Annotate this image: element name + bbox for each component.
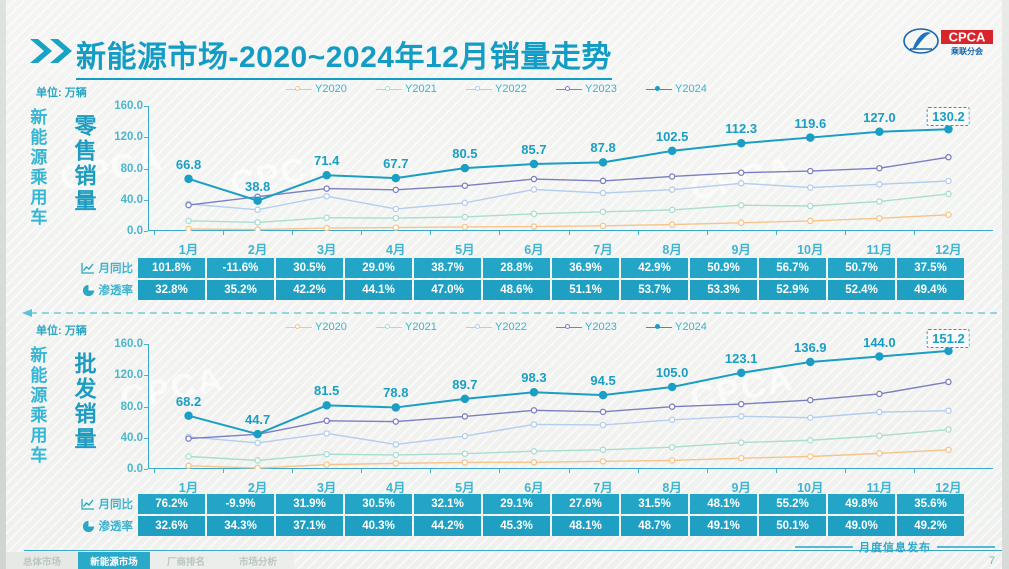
data-point bbox=[945, 126, 952, 133]
table-cell: 47.0% bbox=[414, 280, 481, 300]
data-point bbox=[600, 178, 605, 183]
table-cell: 53.7% bbox=[621, 280, 688, 300]
data-point bbox=[739, 401, 744, 406]
data-point bbox=[393, 452, 398, 457]
data-point bbox=[877, 433, 882, 438]
y-axis-tick bbox=[144, 231, 148, 232]
legend-swatch bbox=[376, 327, 402, 328]
data-point bbox=[600, 223, 605, 228]
data-point bbox=[600, 190, 605, 195]
table-cell: 48.1% bbox=[690, 494, 757, 514]
wholesale-table-row-labels: 月同比 渗透率 bbox=[68, 494, 138, 536]
footer-nav-item[interactable]: 厂商排名 bbox=[150, 552, 222, 569]
wholesale-kind-label: 批发销量 bbox=[72, 352, 94, 452]
wholesale-category-label: 新能源乘用车 bbox=[28, 346, 45, 466]
data-point bbox=[462, 183, 467, 188]
retail-kind-label: 零售销量 bbox=[72, 114, 94, 214]
legend-swatch bbox=[556, 89, 582, 90]
series-line-y2020 bbox=[189, 450, 949, 468]
table-cell: 45.3% bbox=[483, 516, 550, 536]
data-point bbox=[531, 224, 536, 229]
data-point bbox=[393, 419, 398, 424]
x-axis-tick bbox=[569, 231, 570, 235]
data-point bbox=[877, 451, 882, 456]
x-axis-tick-label: 9月 bbox=[731, 239, 750, 258]
table-cell: 50.7% bbox=[828, 258, 895, 278]
x-axis-tick-label: 6月 bbox=[524, 239, 543, 258]
legend-label: Y2022 bbox=[495, 321, 527, 333]
x-axis-tick bbox=[223, 231, 224, 235]
data-point bbox=[255, 440, 260, 445]
y-axis-tick bbox=[144, 375, 148, 376]
data-point bbox=[877, 410, 882, 415]
legend-swatch bbox=[286, 327, 312, 328]
table-cell: 53.3% bbox=[690, 280, 757, 300]
data-point bbox=[530, 389, 537, 396]
data-point bbox=[670, 417, 675, 422]
data-point bbox=[393, 206, 398, 211]
table-cell: 49.2% bbox=[897, 516, 964, 536]
data-value-label: 66.8 bbox=[176, 157, 201, 172]
data-point bbox=[324, 186, 329, 191]
x-axis-tick bbox=[154, 469, 155, 473]
table-cell: 38.7% bbox=[414, 258, 481, 278]
data-point bbox=[739, 170, 744, 175]
retail-table-cells: 101.8%-11.6%30.5%29.0%38.7%28.8%36.9%42.… bbox=[138, 258, 964, 300]
table-cell: 101.8% bbox=[138, 258, 205, 278]
data-value-label: 87.8 bbox=[590, 140, 615, 155]
data-point bbox=[186, 218, 191, 223]
table-cell: 48.1% bbox=[552, 516, 619, 536]
data-point bbox=[877, 216, 882, 221]
data-point bbox=[462, 451, 467, 456]
data-value-label: 151.2 bbox=[927, 329, 970, 348]
data-point bbox=[876, 353, 883, 360]
data-point bbox=[600, 447, 605, 452]
data-point bbox=[808, 397, 813, 402]
data-point bbox=[462, 460, 467, 465]
data-value-label: 67.7 bbox=[383, 156, 408, 171]
table-row: 32.8%35.2%42.2%44.1%47.0%48.6%51.1%53.7%… bbox=[138, 280, 964, 300]
x-axis-tick bbox=[707, 469, 708, 473]
data-point bbox=[739, 181, 744, 186]
x-axis-tick bbox=[707, 231, 708, 235]
data-point bbox=[186, 226, 191, 231]
legend-item-y2020[interactable]: Y2020 bbox=[286, 321, 347, 333]
data-point bbox=[738, 369, 745, 376]
table-cell: 48.6% bbox=[483, 280, 550, 300]
wholesale-table-cells: 76.2%-9.9%31.9%30.5%32.1%29.1%27.6%31.5%… bbox=[138, 494, 964, 536]
y-axis-tick-label: 0.0 bbox=[127, 463, 143, 475]
data-value-label: 144.0 bbox=[863, 335, 896, 350]
legend-swatch bbox=[376, 89, 402, 90]
legend-label: Y2020 bbox=[315, 83, 347, 95]
y-axis-tick-label: 40.0 bbox=[121, 194, 143, 206]
data-point bbox=[739, 456, 744, 461]
data-point bbox=[254, 430, 261, 437]
retail-chart-plot: 0.040.080.0120.0160.01月2月3月4月5月6月7月8月9月1… bbox=[148, 106, 993, 231]
data-point bbox=[669, 383, 676, 390]
x-axis-tick bbox=[845, 469, 846, 473]
table-cell: 34.3% bbox=[207, 516, 274, 536]
y-axis-tick-label: 160.0 bbox=[114, 338, 143, 350]
x-axis-tick bbox=[638, 469, 639, 473]
data-point bbox=[807, 134, 814, 141]
y-axis-tick bbox=[144, 407, 148, 408]
data-value-label: 85.7 bbox=[521, 142, 546, 157]
data-point bbox=[946, 191, 951, 196]
legend-swatch bbox=[466, 89, 492, 90]
wholesale-row-label-penetration: 渗透率 bbox=[68, 516, 138, 536]
data-value-label: 81.5 bbox=[314, 383, 339, 398]
legend-item-y2023[interactable]: Y2023 bbox=[556, 321, 617, 333]
data-point bbox=[462, 414, 467, 419]
data-point bbox=[670, 222, 675, 227]
data-point bbox=[531, 176, 536, 181]
footer-rule-right bbox=[937, 546, 995, 547]
legend-label: Y2024 bbox=[675, 83, 707, 95]
data-value-label: 94.5 bbox=[590, 373, 615, 388]
data-point bbox=[531, 460, 536, 465]
legend-item-y2022[interactable]: Y2022 bbox=[466, 321, 527, 333]
x-axis-tick-label: 11月 bbox=[867, 239, 893, 258]
x-axis-tick bbox=[914, 469, 915, 473]
data-point bbox=[600, 409, 605, 414]
page-title: 新能源市场-2020~2024年12月销量走势 bbox=[76, 32, 612, 80]
table-cell: 40.3% bbox=[345, 516, 412, 536]
series-line-y2022 bbox=[189, 181, 949, 210]
footer-rule-left bbox=[795, 546, 853, 547]
table-cell: 37.5% bbox=[897, 258, 964, 278]
legend-label: Y2023 bbox=[585, 83, 617, 95]
legend-label: Y2021 bbox=[405, 83, 437, 95]
table-cell: 51.1% bbox=[552, 280, 619, 300]
data-point bbox=[531, 211, 536, 216]
wholesale-unit-label: 单位: 万辆 bbox=[36, 322, 87, 338]
table-cell: -9.9% bbox=[207, 494, 274, 514]
svg-text:CPCA: CPCA bbox=[949, 30, 986, 45]
row-label-text: 月同比 bbox=[99, 260, 134, 276]
legend-swatch bbox=[556, 327, 582, 328]
table-cell: 29.0% bbox=[345, 258, 412, 278]
table-row: 32.6%34.3%37.1%40.3%44.2%45.3%48.1%48.7%… bbox=[138, 516, 964, 536]
legend-label: Y2020 bbox=[315, 321, 347, 333]
legend-label: Y2022 bbox=[495, 83, 527, 95]
data-point bbox=[808, 415, 813, 420]
x-axis-tick bbox=[430, 469, 431, 473]
footer-nav-item[interactable]: 市场分析 bbox=[222, 552, 294, 569]
series-line-y2023 bbox=[189, 382, 949, 439]
data-point bbox=[323, 172, 330, 179]
data-point bbox=[739, 220, 744, 225]
svg-text:乘联分会: 乘联分会 bbox=[950, 46, 983, 56]
data-value-label: 119.6 bbox=[794, 116, 826, 131]
retail-table-row-labels: 月同比 渗透率 bbox=[68, 258, 138, 300]
data-point bbox=[670, 174, 675, 179]
row-label-text: 渗透率 bbox=[99, 518, 134, 534]
data-point bbox=[808, 168, 813, 173]
legend-item-y2020[interactable]: Y2020 bbox=[286, 83, 347, 95]
data-point bbox=[324, 431, 329, 436]
chart-svg bbox=[148, 344, 993, 469]
data-value-label: 105.0 bbox=[656, 365, 689, 380]
x-axis-tick bbox=[154, 231, 155, 235]
data-point bbox=[531, 422, 536, 427]
data-point bbox=[393, 187, 398, 192]
y-axis-tick bbox=[144, 469, 148, 470]
data-value-label: 68.2 bbox=[176, 394, 201, 409]
retail-row-label-yoy: 月同比 bbox=[68, 258, 138, 278]
x-axis-tick-label: 2月 bbox=[248, 239, 267, 258]
data-point bbox=[462, 224, 467, 229]
data-point bbox=[462, 434, 467, 439]
y-axis-tick bbox=[144, 344, 148, 345]
data-point bbox=[739, 440, 744, 445]
table-cell: 28.8% bbox=[483, 258, 550, 278]
data-point bbox=[461, 165, 468, 172]
data-point bbox=[877, 182, 882, 187]
y-axis-tick-label: 160.0 bbox=[114, 100, 143, 112]
data-point bbox=[876, 128, 883, 135]
x-axis-tick bbox=[430, 231, 431, 235]
data-value-label: 102.5 bbox=[656, 129, 689, 144]
data-point bbox=[531, 187, 536, 192]
data-point bbox=[599, 392, 606, 399]
data-value-label: 112.3 bbox=[725, 121, 757, 136]
wholesale-row-label-yoy: 月同比 bbox=[68, 494, 138, 514]
table-cell: 49.4% bbox=[897, 280, 964, 300]
pie-chart-icon bbox=[82, 284, 95, 297]
line-chart-icon bbox=[81, 498, 95, 510]
y-axis-tick-label: 120.0 bbox=[114, 131, 143, 143]
data-value-label: 78.8 bbox=[383, 385, 408, 400]
table-cell: 32.6% bbox=[138, 516, 205, 536]
data-point bbox=[392, 175, 399, 182]
data-point bbox=[946, 408, 951, 413]
data-point bbox=[669, 147, 676, 154]
x-axis-tick bbox=[361, 231, 362, 235]
data-point bbox=[600, 459, 605, 464]
wholesale-legend: Y2020 Y2021 Y2022 Y2023 Y2024 bbox=[286, 321, 686, 337]
data-point bbox=[946, 379, 951, 384]
data-point bbox=[186, 454, 191, 459]
table-cell: 49.1% bbox=[690, 516, 757, 536]
double-chevron-right-icon bbox=[28, 36, 74, 66]
legend-label: Y2023 bbox=[585, 321, 617, 333]
table-cell: 49.0% bbox=[828, 516, 895, 536]
data-point bbox=[877, 199, 882, 204]
data-point bbox=[531, 449, 536, 454]
data-point bbox=[324, 452, 329, 457]
data-value-label: 80.5 bbox=[452, 146, 477, 161]
x-axis-tick-label: 10月 bbox=[797, 239, 823, 258]
data-value-label: 98.3 bbox=[521, 370, 546, 385]
data-point bbox=[670, 207, 675, 212]
data-point bbox=[600, 209, 605, 214]
data-point bbox=[738, 140, 745, 147]
cpca-logo: CPCA 乘联分会 bbox=[901, 22, 997, 62]
x-axis-tick bbox=[776, 231, 777, 235]
data-point bbox=[461, 395, 468, 402]
data-point bbox=[324, 215, 329, 220]
y-axis-tick-label: 80.0 bbox=[121, 163, 143, 175]
data-point bbox=[739, 414, 744, 419]
legend-item-y2024[interactable]: Y2024 bbox=[646, 321, 707, 333]
data-value-label: 130.2 bbox=[927, 107, 970, 126]
data-point bbox=[324, 462, 329, 467]
x-axis-tick bbox=[361, 469, 362, 473]
table-row: 101.8%-11.6%30.5%29.0%38.7%28.8%36.9%42.… bbox=[138, 258, 964, 278]
series-line-y2024 bbox=[189, 129, 949, 200]
data-point bbox=[808, 218, 813, 223]
data-point bbox=[393, 442, 398, 447]
data-point bbox=[185, 175, 192, 182]
series-line-y2023 bbox=[189, 157, 949, 205]
table-cell: 76.2% bbox=[138, 494, 205, 514]
data-point bbox=[255, 458, 260, 463]
x-axis-tick bbox=[569, 469, 570, 473]
data-value-label: 71.4 bbox=[314, 153, 339, 168]
table-cell: 32.1% bbox=[414, 494, 481, 514]
table-cell: 29.1% bbox=[483, 494, 550, 514]
wholesale-data-table: 月同比 渗透率 76.2%-9.9%31.9%30.5%32.1%29.1%27… bbox=[68, 494, 964, 536]
table-cell: 35.2% bbox=[207, 280, 274, 300]
table-cell: 48.7% bbox=[621, 516, 688, 536]
legend-item-y2024[interactable]: Y2024 bbox=[646, 83, 707, 95]
pie-chart-icon bbox=[82, 520, 95, 533]
retail-unit-label: 单位: 万辆 bbox=[36, 84, 87, 100]
table-cell: 30.5% bbox=[345, 494, 412, 514]
legend-swatch bbox=[466, 327, 492, 328]
row-label-text: 月同比 bbox=[99, 496, 134, 512]
legend-item-y2021[interactable]: Y2021 bbox=[376, 83, 437, 95]
data-point bbox=[670, 187, 675, 192]
x-axis-tick bbox=[292, 231, 293, 235]
data-point bbox=[186, 463, 191, 468]
legend-swatch bbox=[646, 89, 672, 90]
data-point bbox=[254, 197, 261, 204]
x-axis-tick bbox=[845, 231, 846, 235]
data-point bbox=[255, 207, 260, 212]
data-point bbox=[946, 427, 951, 432]
x-axis-tick-label: 5月 bbox=[455, 239, 474, 258]
section-separator bbox=[22, 308, 998, 318]
retail-legend: Y2020 Y2021 Y2022 Y2023 Y2024 bbox=[286, 83, 686, 99]
data-point bbox=[324, 418, 329, 423]
table-cell: 44.1% bbox=[345, 280, 412, 300]
data-point bbox=[393, 461, 398, 466]
data-point bbox=[808, 203, 813, 208]
data-point bbox=[186, 202, 191, 207]
legend-item-y2023[interactable]: Y2023 bbox=[556, 83, 617, 95]
x-axis-tick bbox=[914, 231, 915, 235]
data-value-label: 38.8 bbox=[245, 179, 270, 194]
data-point bbox=[670, 458, 675, 463]
data-point bbox=[323, 402, 330, 409]
table-cell: 44.2% bbox=[414, 516, 481, 536]
data-point bbox=[807, 358, 814, 365]
x-axis-tick bbox=[776, 469, 777, 473]
table-cell: 49.8% bbox=[828, 494, 895, 514]
data-point bbox=[324, 194, 329, 199]
table-cell: 27.6% bbox=[552, 494, 619, 514]
data-point bbox=[324, 225, 329, 230]
retail-category-label: 新能源乘用车 bbox=[28, 108, 45, 228]
data-point bbox=[600, 422, 605, 427]
data-value-label: 127.0 bbox=[863, 110, 896, 125]
legend-item-y2021[interactable]: Y2021 bbox=[376, 321, 437, 333]
data-point bbox=[946, 155, 951, 160]
series-line-y2024 bbox=[189, 351, 949, 434]
y-axis-tick bbox=[144, 200, 148, 201]
data-value-label: 44.7 bbox=[245, 412, 270, 427]
data-point bbox=[462, 200, 467, 205]
data-point bbox=[808, 185, 813, 190]
data-point bbox=[393, 216, 398, 221]
data-point bbox=[599, 159, 606, 166]
header: 新能源市场-2020~2024年12月销量走势 CPCA 乘联分会 bbox=[0, 14, 1009, 64]
table-cell: 35.6% bbox=[897, 494, 964, 514]
data-point bbox=[877, 391, 882, 396]
table-cell: 56.7% bbox=[759, 258, 826, 278]
table-cell: 36.9% bbox=[552, 258, 619, 278]
series-line-y2021 bbox=[189, 194, 949, 223]
data-point bbox=[946, 212, 951, 217]
x-axis-tick bbox=[499, 469, 500, 473]
x-axis-tick-label: 8月 bbox=[662, 239, 681, 258]
line-chart-icon bbox=[81, 262, 95, 274]
data-point bbox=[531, 408, 536, 413]
table-cell: 31.5% bbox=[621, 494, 688, 514]
legend-item-y2022[interactable]: Y2022 bbox=[466, 83, 527, 95]
legend-swatch bbox=[286, 89, 312, 90]
data-point bbox=[255, 220, 260, 225]
data-point bbox=[392, 404, 399, 411]
data-point bbox=[670, 404, 675, 409]
legend-label: Y2021 bbox=[405, 321, 437, 333]
table-row: 76.2%-9.9%31.9%30.5%32.1%29.1%27.6%31.5%… bbox=[138, 494, 964, 514]
data-point bbox=[808, 438, 813, 443]
footer-note-text: 月度信息发布 bbox=[859, 539, 931, 555]
footer-nav-item[interactable]: 新能源市场 bbox=[78, 552, 150, 569]
table-cell: 55.2% bbox=[759, 494, 826, 514]
data-point bbox=[808, 454, 813, 459]
footer-nav-item[interactable]: 总体市场 bbox=[6, 552, 78, 569]
data-point bbox=[255, 465, 260, 469]
table-cell: 31.9% bbox=[276, 494, 343, 514]
table-cell: 52.4% bbox=[828, 280, 895, 300]
x-axis-tick bbox=[638, 231, 639, 235]
data-point bbox=[739, 203, 744, 208]
table-cell: 32.8% bbox=[138, 280, 205, 300]
retail-data-table: 月同比 渗透率 101.8%-11.6%30.5%29.0%38.7%28.8%… bbox=[68, 258, 964, 300]
table-cell: 42.9% bbox=[621, 258, 688, 278]
legend-label: Y2024 bbox=[675, 321, 707, 333]
data-point bbox=[945, 347, 952, 354]
y-axis-tick-label: 0.0 bbox=[127, 225, 143, 237]
retail-row-label-penetration: 渗透率 bbox=[68, 280, 138, 300]
y-axis-tick bbox=[144, 438, 148, 439]
table-cell: 50.9% bbox=[690, 258, 757, 278]
table-cell: 30.5% bbox=[276, 258, 343, 278]
footer-note: 月度信息发布 bbox=[795, 539, 995, 555]
y-axis-tick bbox=[144, 169, 148, 170]
table-cell: 37.1% bbox=[276, 516, 343, 536]
y-axis-tick-label: 40.0 bbox=[121, 432, 143, 444]
table-cell: -11.6% bbox=[207, 258, 274, 278]
wholesale-chart-plot: 0.040.080.0120.0160.01月2月3月4月5月6月7月8月9月1… bbox=[148, 344, 993, 469]
x-axis-tick-label: 7月 bbox=[593, 239, 612, 258]
